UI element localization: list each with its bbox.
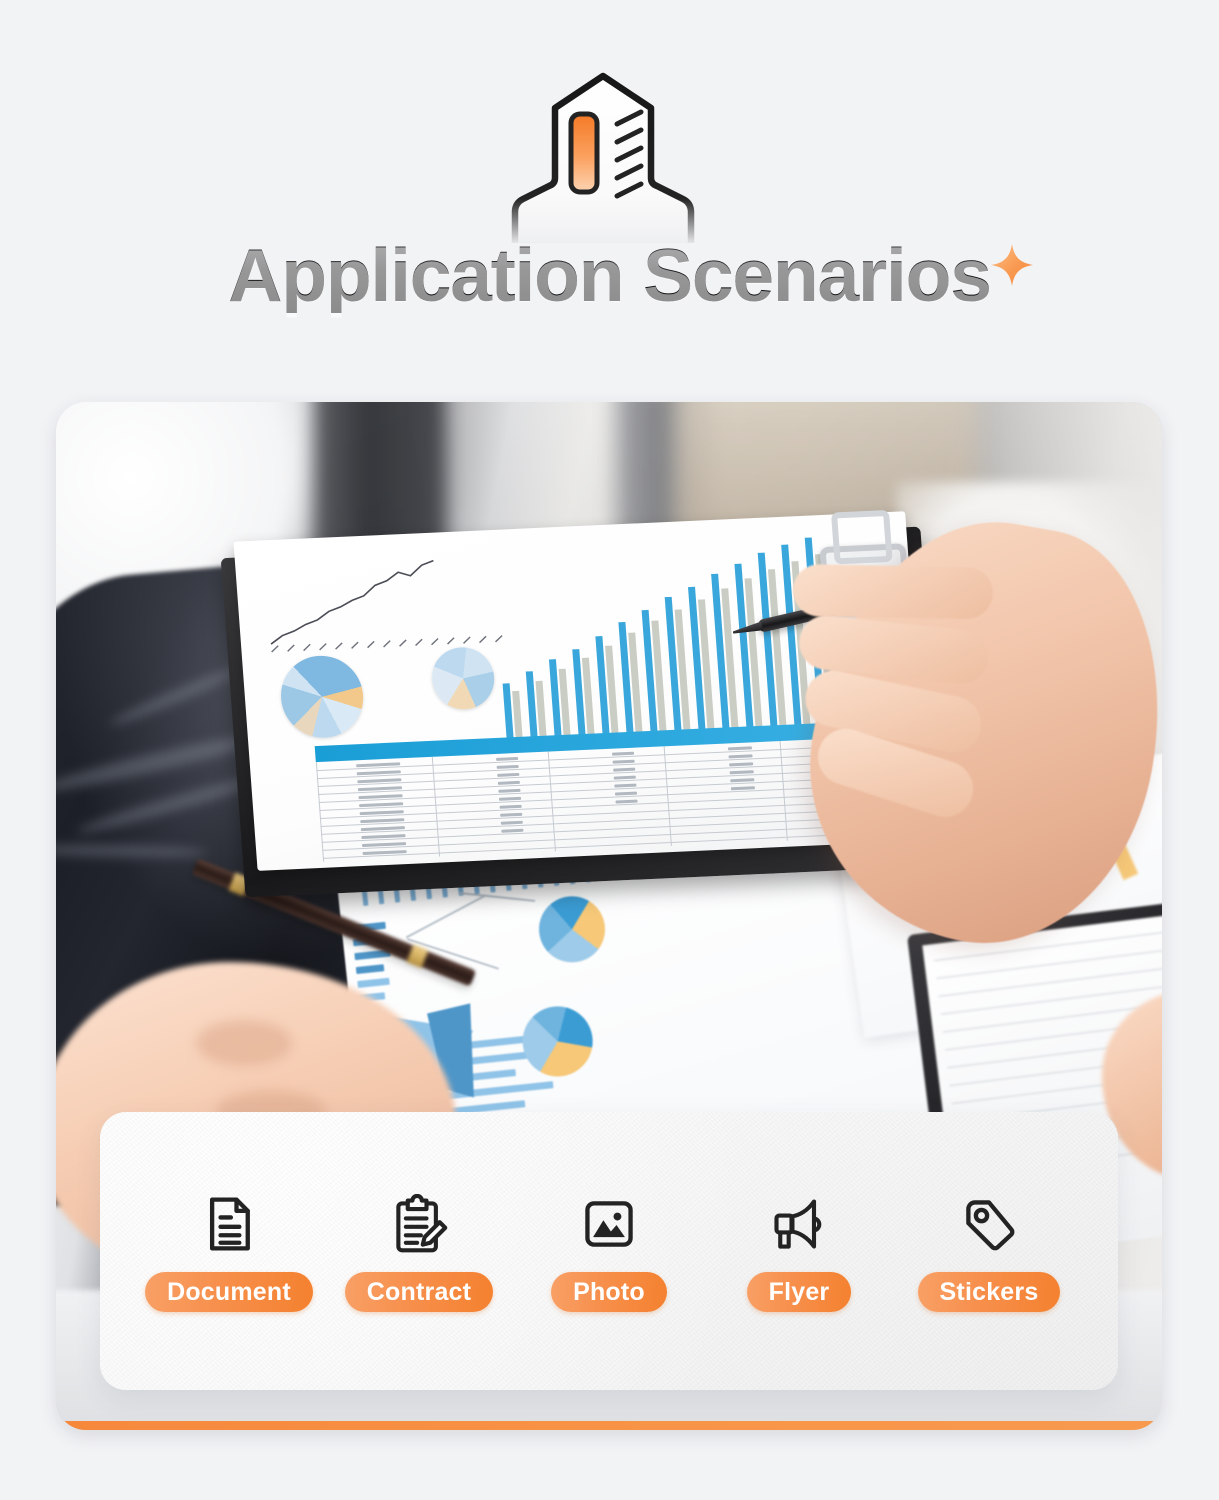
sparkle-icon (989, 242, 1035, 288)
image-icon (575, 1190, 643, 1258)
scenario-item-photo[interactable]: Photo (514, 1190, 704, 1312)
scenario-label-stickers: Stickers (918, 1272, 1061, 1312)
scenario-label-photo: Photo (551, 1272, 667, 1312)
megaphone-icon (765, 1190, 833, 1258)
building-skyscraper-icon (497, 68, 709, 243)
clipboard-pencil-icon (385, 1190, 453, 1258)
price-tag-icon (955, 1190, 1023, 1258)
pie-chart-right (430, 646, 497, 711)
application-scenarios-page: Application Scenarios (0, 0, 1219, 1500)
pie-chart-left (278, 654, 366, 740)
scenario-item-stickers[interactable]: Stickers (894, 1190, 1084, 1312)
title-row: Application Scenarios (0, 238, 1219, 313)
scenario-label-document: Document (145, 1272, 313, 1312)
clipboard-clip-top (831, 510, 893, 564)
scenario-item-contract[interactable]: Contract (324, 1190, 514, 1312)
scenario-item-document[interactable]: Document (134, 1190, 324, 1312)
scenario-badge-panel: Document Contract (100, 1112, 1118, 1390)
scenario-label-flyer: Flyer (747, 1272, 852, 1312)
scenario-item-flyer[interactable]: Flyer (704, 1190, 894, 1312)
document-icon (195, 1190, 263, 1258)
scenario-label-contract: Contract (345, 1272, 493, 1312)
scenario-badge-row: Document Contract (100, 1112, 1118, 1390)
page-title: Application Scenarios (228, 238, 990, 313)
page-header: Application Scenarios (0, 0, 1219, 400)
